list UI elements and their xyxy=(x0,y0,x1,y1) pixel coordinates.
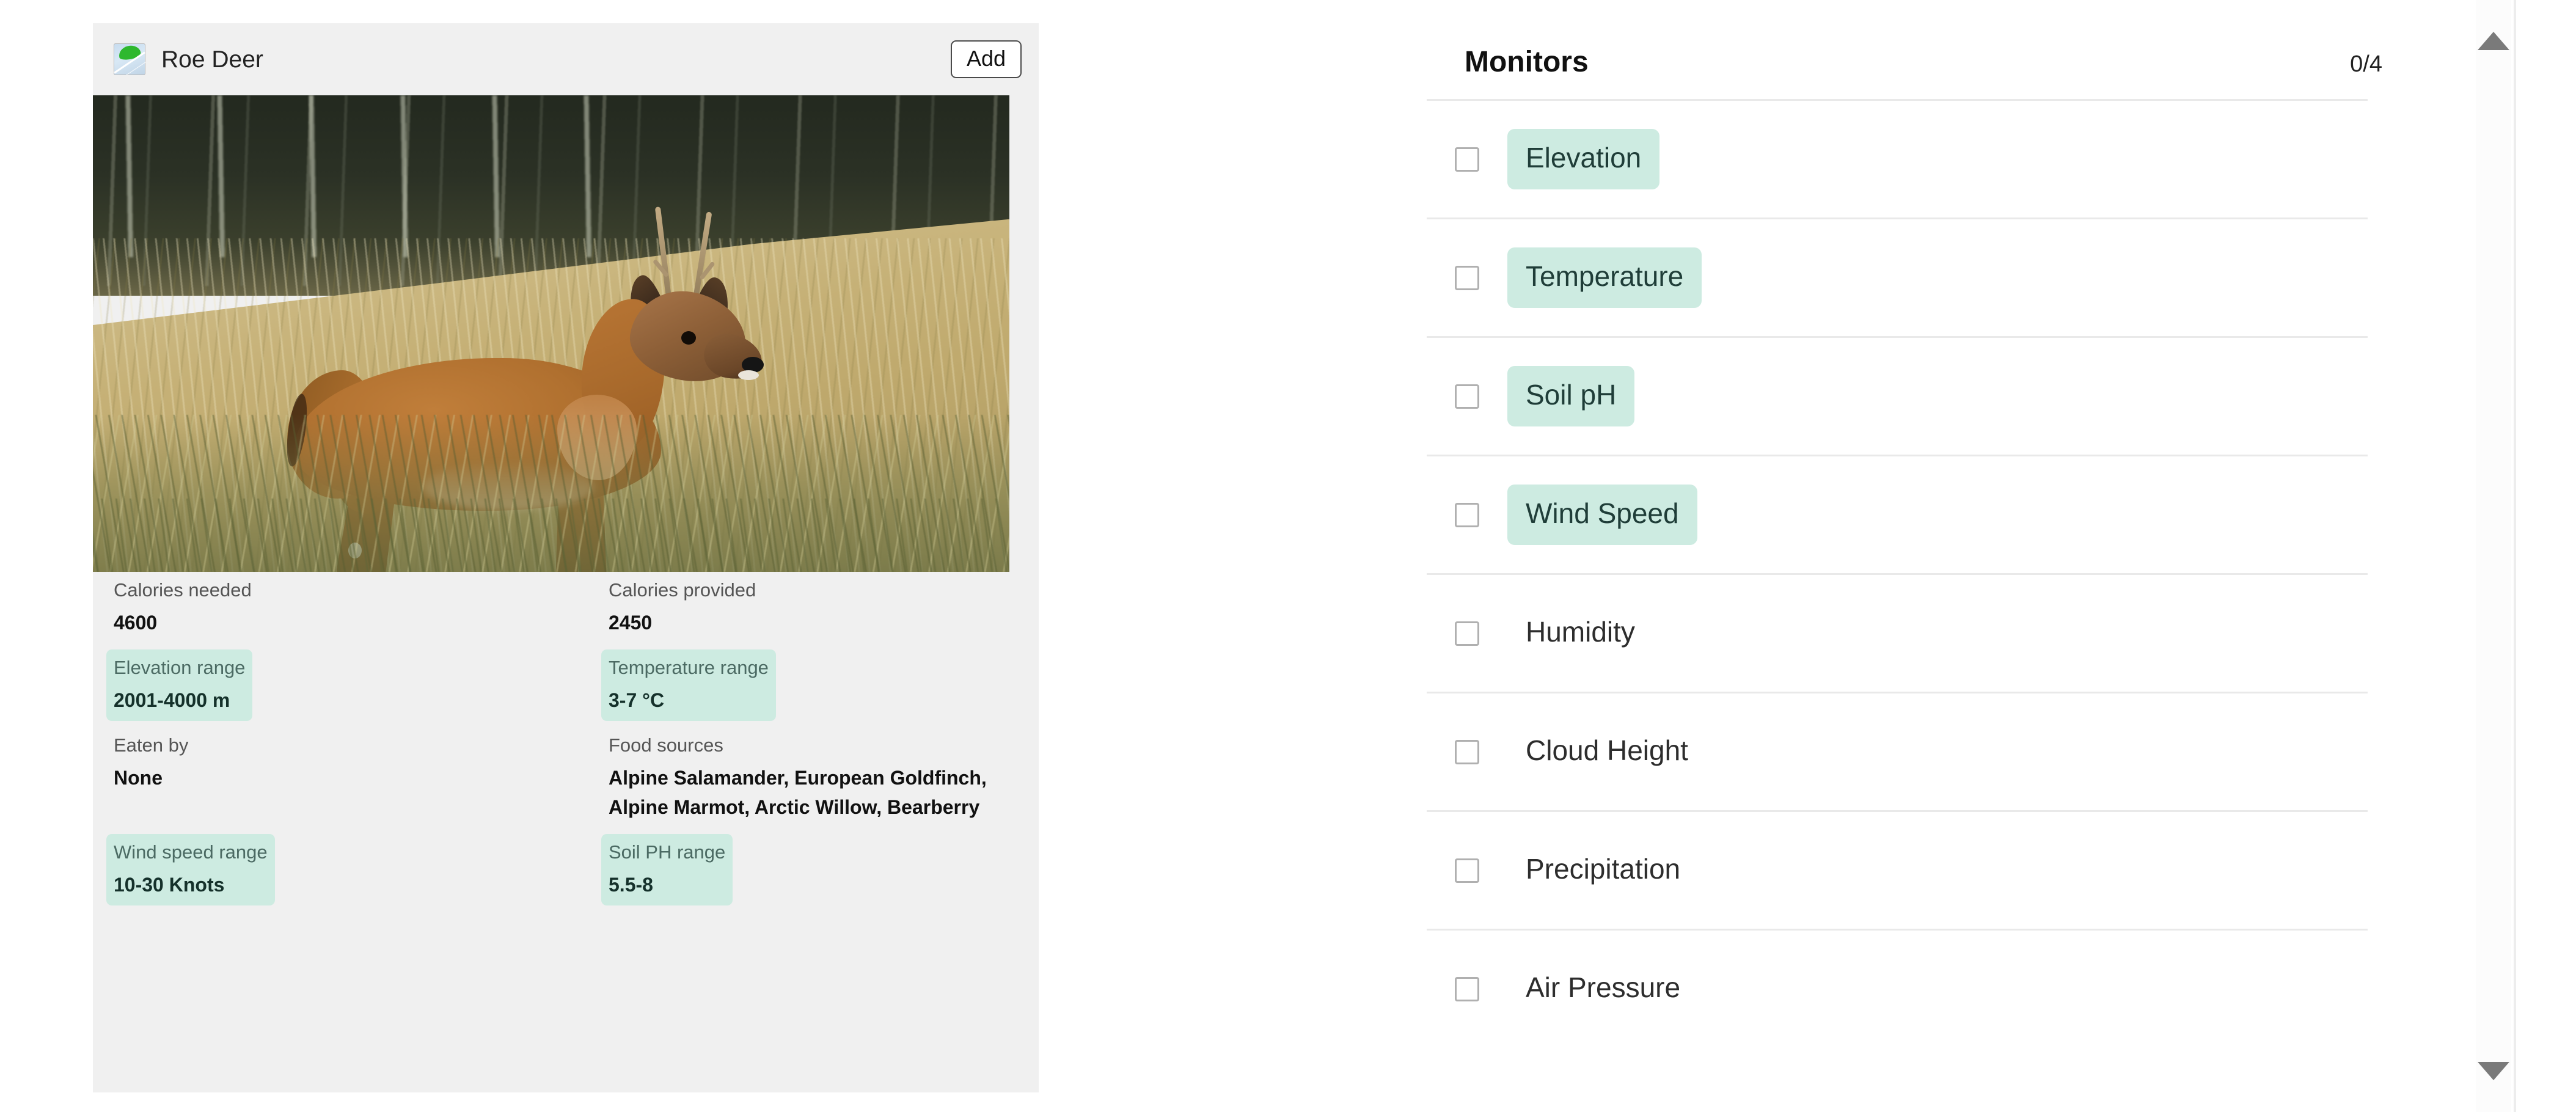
attribute-value: 2001-4000 m xyxy=(114,686,245,715)
attribute-label: Temperature range xyxy=(609,654,769,682)
attribute-cell: Calories provided 2450 xyxy=(609,572,1036,649)
monitor-row-cloud-height[interactable]: Cloud Height xyxy=(1427,692,2368,810)
monitor-checkbox-air-pressure[interactable] xyxy=(1455,977,1479,1001)
monitor-checkbox-humidity[interactable] xyxy=(1455,621,1479,646)
monitors-title: Monitors xyxy=(1465,48,1589,77)
attribute-label: Calories provided xyxy=(609,577,756,604)
attribute-cell: Wind speed range 10-30 Knots xyxy=(114,834,609,912)
monitor-label: Humidity xyxy=(1507,603,1653,664)
monitor-checkbox-wind-speed[interactable] xyxy=(1455,503,1479,527)
photo-tree-trunks-light xyxy=(93,95,661,257)
attribute-soil-ph-range: Soil PH range 5.5-8 xyxy=(601,834,733,905)
monitor-row-elevation[interactable]: Elevation xyxy=(1427,99,2368,218)
attribute-label: Elevation range xyxy=(114,654,245,682)
deer-eye xyxy=(681,331,696,345)
monitor-label: Elevation xyxy=(1507,129,1659,189)
photo-grass-blades-front xyxy=(93,499,1009,572)
monitor-row-air-pressure[interactable]: Air Pressure xyxy=(1427,929,2368,1047)
attribute-cell: Elevation range 2001-4000 m xyxy=(114,649,609,727)
attribute-value: 5.5-8 xyxy=(609,870,725,899)
attribute-cell: Soil PH range 5.5-8 xyxy=(609,834,1036,912)
attribute-cell: Food sources Alpine Salamander, European… xyxy=(609,727,1036,834)
attribute-calories-provided: Calories provided 2450 xyxy=(601,572,763,643)
monitor-row-wind-speed[interactable]: Wind Speed xyxy=(1427,455,2368,573)
scrollbar-divider xyxy=(2514,0,2516,1112)
attribute-elevation-range: Elevation range 2001-4000 m xyxy=(106,649,252,721)
monitor-row-soil-ph[interactable]: Soil pH xyxy=(1427,336,2368,455)
attribute-eaten-by: Eaten by None xyxy=(106,727,196,799)
monitors-panel: Monitors 0/4 Elevation Temperature Soil … xyxy=(1427,0,2465,1112)
attribute-label: Eaten by xyxy=(114,732,188,759)
species-card: Roe Deer Add xyxy=(93,23,1039,1092)
attribute-value: 3-7 °C xyxy=(609,686,769,715)
species-card-header: Roe Deer Add xyxy=(93,23,1039,95)
attribute-temperature-range: Temperature range 3-7 °C xyxy=(601,649,776,721)
monitor-checkbox-precipitation[interactable] xyxy=(1455,858,1479,883)
species-name: Roe Deer xyxy=(161,48,263,71)
attribute-label: Wind speed range xyxy=(114,839,268,866)
monitor-row-humidity[interactable]: Humidity xyxy=(1427,573,2368,692)
add-button[interactable]: Add xyxy=(951,40,1022,78)
monitor-label: Temperature xyxy=(1507,247,1702,308)
attribute-label: Food sources xyxy=(609,732,1000,759)
triangle-down-icon[interactable] xyxy=(2478,1062,2509,1080)
attribute-food-sources: Food sources Alpine Salamander, European… xyxy=(601,727,1007,828)
monitors-selected-count: 0/4 xyxy=(2350,53,2382,76)
triangle-up-icon[interactable] xyxy=(2478,32,2509,50)
monitor-list: Elevation Temperature Soil pH Wind Speed… xyxy=(1427,99,2465,1047)
monitors-header: Monitors 0/4 xyxy=(1427,0,2465,77)
deer-chin xyxy=(738,370,759,380)
scrollbar-track[interactable] xyxy=(2476,0,2511,1112)
monitor-row-temperature[interactable]: Temperature xyxy=(1427,218,2368,336)
monitor-checkbox-soil-ph[interactable] xyxy=(1455,384,1479,409)
species-photo xyxy=(93,95,1009,572)
vertical-scrollbar[interactable] xyxy=(2476,0,2511,1112)
attribute-value: 10-30 Knots xyxy=(114,870,268,899)
monitor-label: Soil pH xyxy=(1507,366,1634,426)
species-attribute-grid: Calories needed 4600 Calories provided 2… xyxy=(93,572,1039,912)
monitor-label: Precipitation xyxy=(1507,840,1699,901)
attribute-calories-needed: Calories needed 4600 xyxy=(106,572,259,643)
monitor-label: Air Pressure xyxy=(1507,959,1699,1019)
attribute-value: None xyxy=(114,763,188,792)
attribute-label: Soil PH range xyxy=(609,839,725,866)
monitor-checkbox-temperature[interactable] xyxy=(1455,266,1479,290)
attribute-cell: Calories needed 4600 xyxy=(114,572,609,649)
attribute-cell: Temperature range 3-7 °C xyxy=(609,649,1036,727)
attribute-wind-speed-range: Wind speed range 10-30 Knots xyxy=(106,834,275,905)
monitor-row-precipitation[interactable]: Precipitation xyxy=(1427,810,2368,929)
monitor-checkbox-elevation[interactable] xyxy=(1455,147,1479,172)
image-thumbnail-icon xyxy=(114,43,145,75)
attribute-label: Calories needed xyxy=(114,577,252,604)
attribute-value: 2450 xyxy=(609,608,756,637)
monitor-label: Wind Speed xyxy=(1507,485,1697,545)
attribute-cell: Eaten by None xyxy=(114,727,609,834)
monitor-checkbox-cloud-height[interactable] xyxy=(1455,740,1479,764)
attribute-value: Alpine Salamander, European Goldfinch, A… xyxy=(609,763,1000,822)
attribute-value: 4600 xyxy=(114,608,252,637)
monitor-label: Cloud Height xyxy=(1507,722,1707,782)
